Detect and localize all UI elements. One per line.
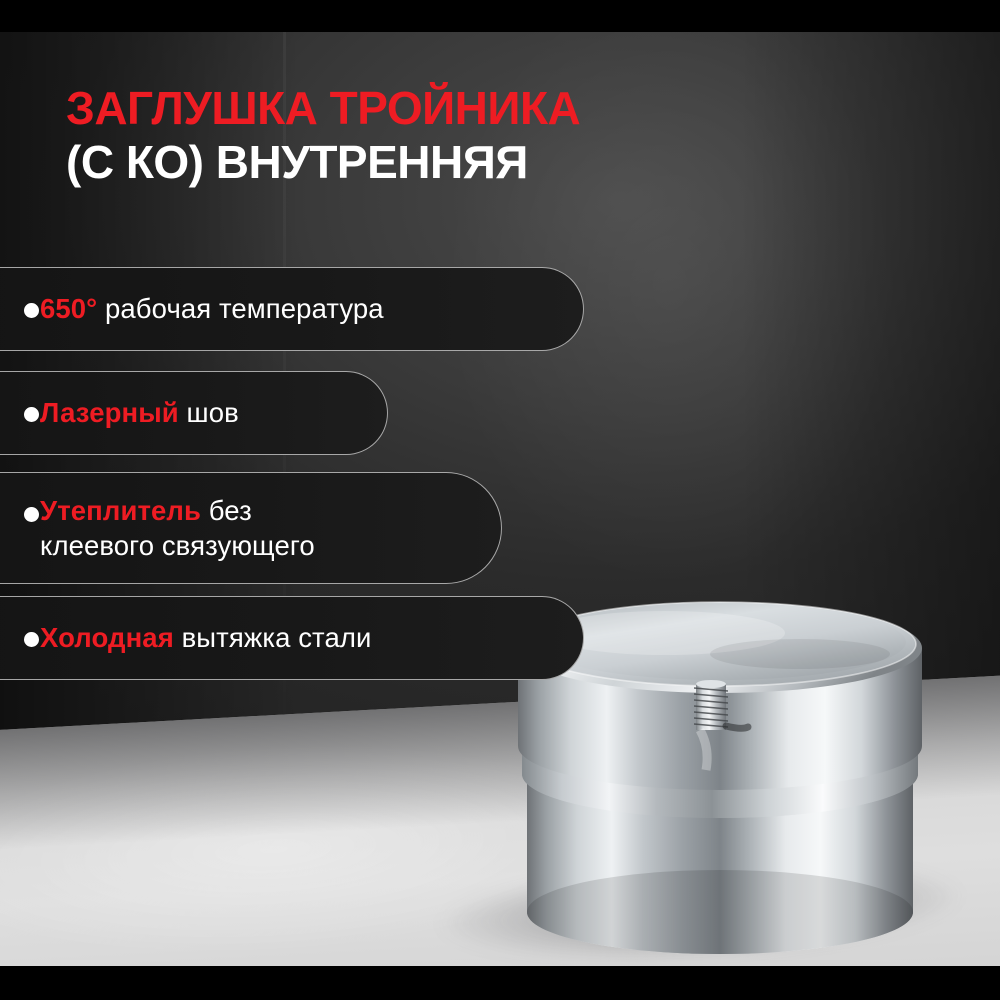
- product-banner: ЗАГЛУШКА ТРОЙНИКА (С КО) ВНУТРЕННЯЯ 650°…: [0, 0, 1000, 1000]
- feature-text: Холодная вытяжка стали: [18, 620, 371, 655]
- marble-floor: [0, 671, 1000, 966]
- feature-rest: вытяжка стали: [174, 622, 372, 653]
- feature-highlight: Утеплитель: [40, 495, 201, 526]
- feature-rest: без: [201, 495, 252, 526]
- bullet-dot-icon: [24, 303, 39, 318]
- feature-pill: Утеплитель без клеевого связующего: [0, 472, 502, 584]
- feature-pill: 650° рабочая температура: [0, 267, 584, 351]
- bullet-dot-icon: [24, 407, 39, 422]
- feature-rest: рабочая температура: [97, 293, 383, 324]
- bottom-letterbox-bar: [0, 966, 1000, 1000]
- feature-highlight: Лазерный: [40, 397, 179, 428]
- feature-line-2: клеевого связующего: [40, 530, 315, 561]
- feature-highlight: Холодная: [40, 622, 174, 653]
- feature-highlight: 650°: [40, 293, 97, 324]
- top-letterbox-bar: [0, 0, 1000, 32]
- feature-rest: шов: [179, 397, 239, 428]
- feature-text: Лазерный шов: [18, 395, 239, 430]
- feature-text: 650° рабочая температура: [18, 291, 384, 326]
- feature-text: Утеплитель без клеевого связующего: [18, 493, 315, 563]
- bullet-dot-icon: [24, 632, 39, 647]
- product-title: ЗАГЛУШКА ТРОЙНИКА (С КО) ВНУТРЕННЯЯ: [66, 82, 786, 190]
- title-line-1: ЗАГЛУШКА ТРОЙНИКА: [66, 82, 786, 136]
- title-line-2: (С КО) ВНУТРЕННЯЯ: [66, 136, 786, 190]
- feature-pill: Холодная вытяжка стали: [0, 596, 584, 680]
- feature-pill: Лазерный шов: [0, 371, 388, 455]
- bullet-dot-icon: [24, 507, 39, 522]
